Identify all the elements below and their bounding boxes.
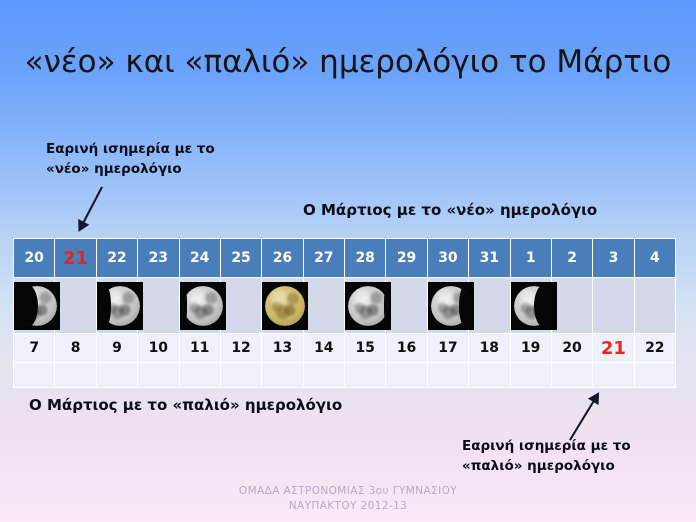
new-calendar-cell: 2 — [551, 239, 592, 278]
callout-new-equinox: Εαρινή ισημερία με το «νέο» ημερολόγιο — [46, 140, 286, 179]
spacer-cell — [427, 363, 468, 388]
old-calendar-day: 20 — [562, 340, 581, 356]
moon-terminator — [459, 286, 471, 326]
spacer-cell — [634, 363, 675, 388]
new-calendar-cell: 28 — [345, 239, 386, 278]
moon-cell — [469, 278, 510, 334]
moon-disc — [265, 286, 305, 326]
new-calendar-day: 24 — [190, 250, 209, 266]
callout-old-equinox: Εαρινή ισημερία με το «παλιό» ημερολόγιο — [462, 437, 696, 476]
spacer-cell — [138, 363, 179, 388]
spacer-cell — [551, 363, 592, 388]
new-calendar-cell: 23 — [138, 239, 179, 278]
moon-disc — [348, 286, 388, 326]
callout-old-equinox-line1: Εαρινή ισημερία με το — [462, 437, 696, 457]
moon-terminator — [534, 286, 554, 326]
new-calendar-day: 25 — [231, 250, 250, 266]
new-calendar-day: 29 — [397, 250, 416, 266]
new-calendar-cell: 26 — [262, 239, 303, 278]
old-calendar-cell: 11 — [179, 334, 220, 363]
arrow-down-left-icon — [60, 180, 120, 242]
old-calendar-day: 7 — [29, 340, 39, 356]
moon-disc — [514, 286, 554, 326]
old-calendar-cell: 17 — [427, 334, 468, 363]
moon-cell — [634, 278, 675, 334]
table-row-new-calendar: 2021222324252627282930311234 — [14, 239, 676, 278]
old-calendar-cell: 18 — [469, 334, 510, 363]
calendar-table: 2021222324252627282930311234 78910111213… — [13, 238, 676, 388]
label-new-calendar: Ο Μάρτιος με το «νέο» ημερολόγιο — [303, 201, 597, 219]
new-calendar-day: 23 — [149, 250, 168, 266]
moon-surface — [348, 286, 388, 326]
footer-line-2: ΝΑΥΠΑΚΤΟΥ 2012-13 — [0, 499, 696, 514]
moon-waning-gibbous-icon — [345, 282, 391, 330]
old-calendar-cell: 15 — [345, 334, 386, 363]
moon-disc — [431, 286, 471, 326]
new-calendar-cell: 25 — [220, 239, 261, 278]
spacer-cell — [469, 363, 510, 388]
moon-waning-crescent-icon — [511, 282, 557, 330]
spacer-cell — [345, 363, 386, 388]
old-calendar-day: 10 — [149, 340, 168, 356]
new-calendar-cell: 1 — [510, 239, 551, 278]
old-calendar-day-highlighted: 21 — [601, 338, 626, 359]
page-title: «νέο» και «παλιό» ημερολόγιο το Μάρτιο — [0, 44, 696, 80]
new-calendar-day: 4 — [650, 250, 660, 266]
old-calendar-cell: 19 — [510, 334, 551, 363]
new-calendar-day: 31 — [480, 250, 499, 266]
old-calendar-day: 11 — [190, 340, 209, 356]
callout-new-equinox-line1: Εαρινή ισημερία με το — [46, 140, 286, 160]
new-calendar-day: 20 — [24, 250, 43, 266]
moon-terminator — [17, 286, 38, 326]
spacer-cell — [593, 363, 634, 388]
slide-canvas: «νέο» και «παλιό» ημερολόγιο το Μάρτιο Ε… — [0, 0, 696, 522]
callout-new-equinox-line2: «νέο» ημερολόγιο — [46, 160, 286, 180]
moon-surface — [265, 286, 305, 326]
spacer-cell — [55, 363, 96, 388]
moon-cell — [179, 278, 220, 334]
old-calendar-cell: 16 — [386, 334, 427, 363]
moon-cell — [593, 278, 634, 334]
moon-cell — [386, 278, 427, 334]
old-calendar-day: 13 — [273, 340, 292, 356]
new-calendar-day: 28 — [355, 250, 374, 266]
old-calendar-cell: 7 — [14, 334, 55, 363]
new-calendar-day: 3 — [609, 250, 619, 266]
spacer-cell — [262, 363, 303, 388]
moon-cell — [220, 278, 261, 334]
old-calendar-cell: 13 — [262, 334, 303, 363]
spacer-cell — [510, 363, 551, 388]
callout-old-equinox-line2: «παλιό» ημερολόγιο — [462, 457, 696, 477]
table-row-spacer — [14, 363, 676, 388]
new-calendar-day: 2 — [567, 250, 577, 266]
new-calendar-cell: 27 — [303, 239, 344, 278]
moon-full-icon — [262, 282, 308, 330]
old-calendar-cell: 21 — [593, 334, 634, 363]
moon-terminator — [183, 286, 187, 326]
new-calendar-day: 1 — [526, 250, 536, 266]
moon-surface — [183, 286, 223, 326]
old-calendar-day: 15 — [355, 340, 374, 356]
moon-disc — [183, 286, 223, 326]
old-calendar-day: 22 — [645, 340, 664, 356]
table-row-old-calendar: 78910111213141516171819202122 — [14, 334, 676, 363]
moon-cell — [551, 278, 592, 334]
old-calendar-day: 19 — [521, 340, 540, 356]
footer-line-1: ΟΜΑΔΑ ΑΣΤΡΟΝΟΜΙΑΣ 3ου ΓΥΜΝΑΣΙΟΥ — [0, 484, 696, 499]
moon-cell — [55, 278, 96, 334]
new-calendar-cell: 20 — [14, 239, 55, 278]
new-calendar-cell: 31 — [469, 239, 510, 278]
spacer-cell — [14, 363, 55, 388]
old-calendar-day: 8 — [71, 340, 81, 356]
old-calendar-day: 16 — [397, 340, 416, 356]
moon-cell — [14, 278, 55, 334]
new-calendar-cell: 30 — [427, 239, 468, 278]
old-calendar-cell: 20 — [551, 334, 592, 363]
old-calendar-day: 12 — [231, 340, 250, 356]
old-calendar-cell: 8 — [55, 334, 96, 363]
new-calendar-cell: 24 — [179, 239, 220, 278]
moon-waxing-crescent-icon — [14, 282, 60, 330]
old-calendar-cell: 9 — [96, 334, 137, 363]
old-calendar-cell: 14 — [303, 334, 344, 363]
new-calendar-day: 30 — [438, 250, 457, 266]
new-calendar-day: 26 — [273, 250, 292, 266]
old-calendar-day: 9 — [112, 340, 122, 356]
old-calendar-day: 14 — [314, 340, 333, 356]
new-calendar-cell: 22 — [96, 239, 137, 278]
moon-last-quarter-icon — [428, 282, 474, 330]
spacer-cell — [303, 363, 344, 388]
moon-waxing-gibbous-icon — [180, 282, 226, 330]
spacer-cell — [386, 363, 427, 388]
old-calendar-cell: 12 — [220, 334, 261, 363]
spacer-cell — [179, 363, 220, 388]
moon-disc — [17, 286, 57, 326]
new-calendar-cell: 29 — [386, 239, 427, 278]
old-calendar-day: 17 — [438, 340, 457, 356]
moon-terminator — [100, 286, 112, 326]
spacer-cell — [220, 363, 261, 388]
footer-credit: ΟΜΑΔΑ ΑΣΤΡΟΝΟΜΙΑΣ 3ου ΓΥΜΝΑΣΙΟΥ ΝΑΥΠΑΚΤΟ… — [0, 484, 696, 514]
moon-cell — [96, 278, 137, 334]
moon-first-quarter-icon — [97, 282, 143, 330]
moon-cell — [427, 278, 468, 334]
new-calendar-cell: 3 — [593, 239, 634, 278]
new-calendar-cell: 21 — [55, 239, 96, 278]
spacer-cell — [96, 363, 137, 388]
moon-cell — [138, 278, 179, 334]
table-row-moon-phases — [14, 278, 676, 334]
old-calendar-day: 18 — [480, 340, 499, 356]
label-old-calendar: Ο Μάρτιος με το «παλιό» ημερολόγιο — [29, 396, 342, 414]
moon-cell — [262, 278, 303, 334]
new-calendar-day-highlighted: 21 — [63, 248, 88, 269]
new-calendar-cell: 4 — [634, 239, 675, 278]
old-calendar-cell: 22 — [634, 334, 675, 363]
moon-disc — [100, 286, 140, 326]
moon-cell — [303, 278, 344, 334]
moon-cell — [345, 278, 386, 334]
new-calendar-day: 22 — [107, 250, 126, 266]
moon-terminator — [384, 286, 388, 326]
moon-cell — [510, 278, 551, 334]
old-calendar-cell: 10 — [138, 334, 179, 363]
new-calendar-day: 27 — [314, 250, 333, 266]
